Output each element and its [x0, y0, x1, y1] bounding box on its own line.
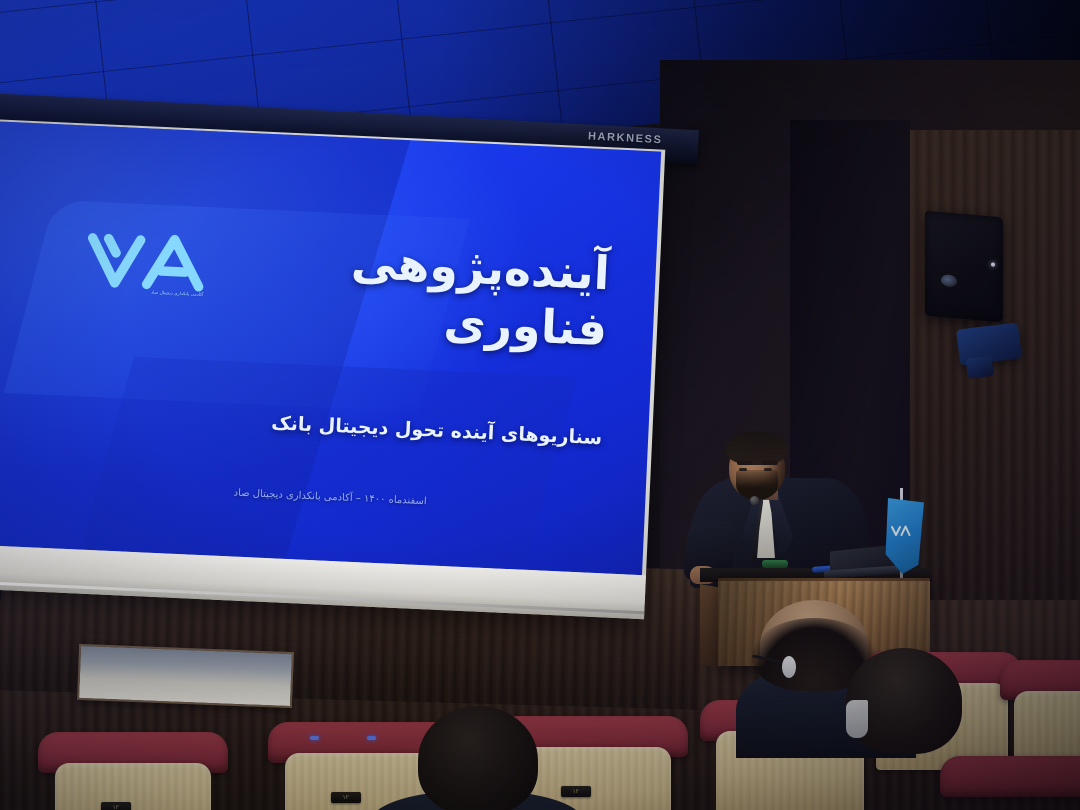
presentation-photo-scene: HARKNESS آکادمی بانک	[0, 0, 1080, 810]
audience-face-mask-strap	[782, 656, 796, 678]
wall-mounted-speaker	[925, 211, 1003, 323]
slide-decor-band-3	[77, 357, 577, 575]
saad-va-logo-icon: آکادمی بانکداری دیجیتال صاد	[80, 221, 216, 313]
harkness-brand-label: HARKNESS	[588, 130, 663, 146]
presenter-brow-left	[737, 461, 753, 465]
projection-screen: آکادمی بانکداری دیجیتال صاد آینده‌پژوهی …	[0, 118, 665, 619]
seat-indicator-left	[310, 736, 319, 740]
presenter-hair	[726, 431, 788, 465]
seat-back-panel	[55, 763, 211, 810]
audience-right-face-mask	[846, 700, 868, 738]
seat-number-plaque: ۱۲	[561, 786, 591, 797]
desk-green-object	[762, 560, 788, 568]
seat-indicator-right	[367, 736, 376, 740]
speaker-cone	[941, 274, 957, 287]
wall-board	[77, 644, 294, 708]
flag-logo-icon	[890, 524, 912, 540]
audience-member-front-left-head	[418, 706, 538, 810]
seat-a1[interactable]: ۱۲	[38, 732, 228, 810]
presenter-beard	[736, 470, 778, 500]
presenter-brow-right	[762, 461, 778, 465]
seat-number-plaque: ۱۲	[101, 802, 131, 810]
seat-number-plaque: ۱۲	[331, 792, 361, 803]
presentation-slide: آکادمی بانکداری دیجیتال صاد آینده‌پژوهی …	[0, 120, 661, 575]
wall-spotlight	[956, 322, 1022, 365]
speaker-led-indicator	[991, 262, 995, 266]
slide-title: آینده‌پژوهی فناوری	[276, 230, 611, 357]
gooseneck-microphone-head	[750, 496, 759, 505]
